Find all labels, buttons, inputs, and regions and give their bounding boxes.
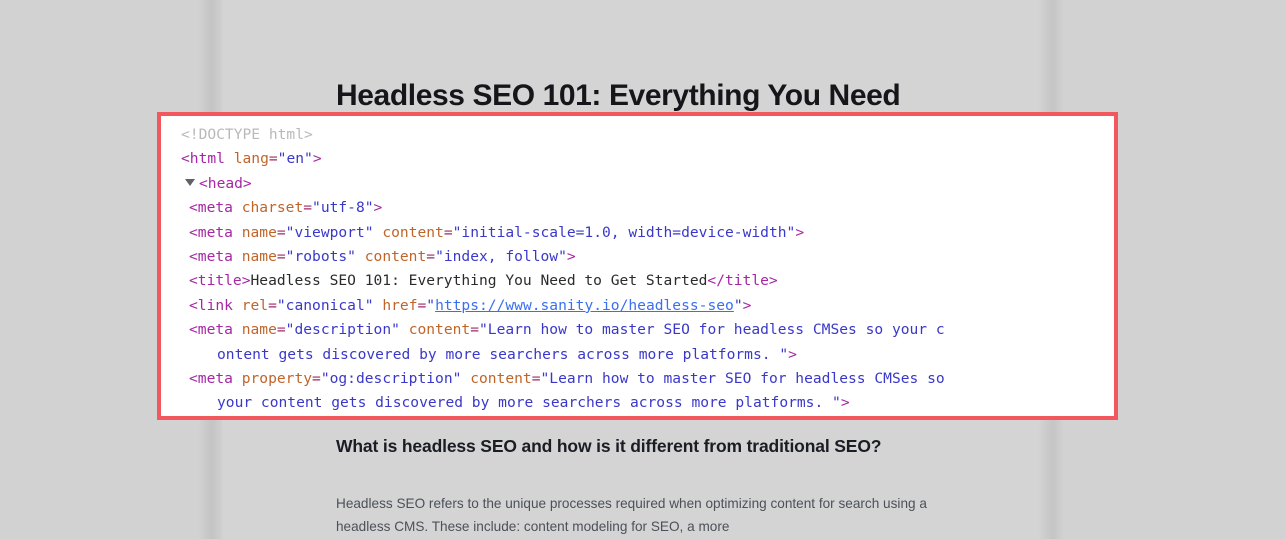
code-token-tag: <meta [189,321,233,338]
code-token-val: "og:description" [321,370,462,387]
code-token-val: "utf-8" [312,199,374,216]
line-meta-og-description[interactable]: <meta property="og:description" content=… [161,367,1114,391]
code-token-val: "en" [278,150,313,167]
code-token-eq: = [269,150,278,167]
code-token-attr: name [233,248,277,265]
code-token-eq: = [444,224,453,241]
code-token-tag: <meta [189,370,233,387]
article-body-paragraph: Headless SEO refers to the unique proces… [336,493,948,538]
code-token-eq: = [277,248,286,265]
code-token-val: "index, follow" [435,248,567,265]
article-subheading: What is headless SEO and how is it diffe… [336,434,916,458]
code-token-eq: = [303,199,312,216]
line-meta-viewport[interactable]: <meta name="viewport" content="initial-s… [161,221,1114,245]
line-meta-robots[interactable]: <meta name="robots" content="index, foll… [161,245,1114,269]
code-token-eq: = [312,370,321,387]
code-token-eq: = [277,224,286,241]
code-token-val: "robots" [286,248,356,265]
code-token-attr: content [461,370,531,387]
code-token-eq: = [426,248,435,265]
code-token-eq: = [532,370,541,387]
code-token-tag: > [567,248,576,265]
code-token-tag: <meta [189,248,233,265]
line-meta-charset[interactable]: <meta charset="utf-8"> [161,196,1114,220]
code-token-cont: your content gets discovered by more sea… [217,394,841,411]
code-inspector-panel[interactable]: <!DOCTYPE html><html lang="en"><head><me… [157,112,1118,420]
code-token-attr: content [374,224,444,241]
code-line-list[interactable]: <!DOCTYPE html><html lang="en"><head><me… [161,116,1114,416]
code-token-attr: rel [233,297,268,314]
code-token-tag: > [841,394,850,411]
code-token-link[interactable]: https://www.sanity.io/headless-seo [435,297,734,314]
code-token-eq: = [277,321,286,338]
code-token-attr: name [233,224,277,241]
code-token-val: "Learn how to master SEO for headless CM… [479,321,945,338]
code-token-val: "initial-scale=1.0, width=device-width" [453,224,796,241]
line-link-canonical[interactable]: <link rel="canonical" href="https://www.… [161,294,1114,318]
code-token-val: "viewport" [286,224,374,241]
code-token-tag: > [788,346,797,363]
code-token-val: "canonical" [277,297,374,314]
code-token-eq: = [470,321,479,338]
code-token-tag: > [743,297,752,314]
line-html-open[interactable]: <html lang="en"> [161,147,1114,171]
code-token-attr: href [374,297,418,314]
code-token-tag: <link [189,297,233,314]
code-token-cont: ontent gets discovered by more searchers… [217,346,788,363]
code-token-tag: <head> [199,175,252,192]
code-token-tag: </title> [707,272,777,289]
code-token-attr: name [233,321,277,338]
code-token-tag: > [374,199,383,216]
line-title[interactable]: <title>Headless SEO 101: Everything You … [161,269,1114,293]
code-token-val: "description" [286,321,400,338]
line-meta-og-description-cont[interactable]: your content gets discovered by more sea… [161,391,1114,415]
code-token-val: "Learn how to master SEO for headless CM… [541,370,945,387]
code-token-tag: <meta [189,199,233,216]
code-token-tag: > [795,224,804,241]
line-head-open[interactable]: <head> [161,172,1114,196]
line-doctype[interactable]: <!DOCTYPE html> [161,123,1114,147]
code-token-attr: content [356,248,426,265]
code-token-tag: > [313,150,322,167]
line-meta-description-cont[interactable]: ontent gets discovered by more searchers… [161,343,1114,367]
code-token-tag: <meta [189,224,233,241]
page-title: Headless SEO 101: Everything You Need [336,78,1036,113]
code-token-attr: property [233,370,312,387]
chevron-down-icon[interactable] [185,179,195,186]
code-token-doctype: <!DOCTYPE html> [181,126,313,143]
code-token-val: " [426,297,435,314]
code-token-attr: lang [225,150,269,167]
code-token-tag: <html [181,150,225,167]
code-token-attr: charset [233,199,303,216]
code-token-tag: <title> [189,272,251,289]
code-token-eq: = [417,297,426,314]
code-token-eq: = [268,297,277,314]
code-token-text: Headless SEO 101: Everything You Need to… [251,272,708,289]
code-token-val: " [734,297,743,314]
code-token-attr: content [400,321,470,338]
line-meta-description[interactable]: <meta name="description" content="Learn … [161,318,1114,342]
